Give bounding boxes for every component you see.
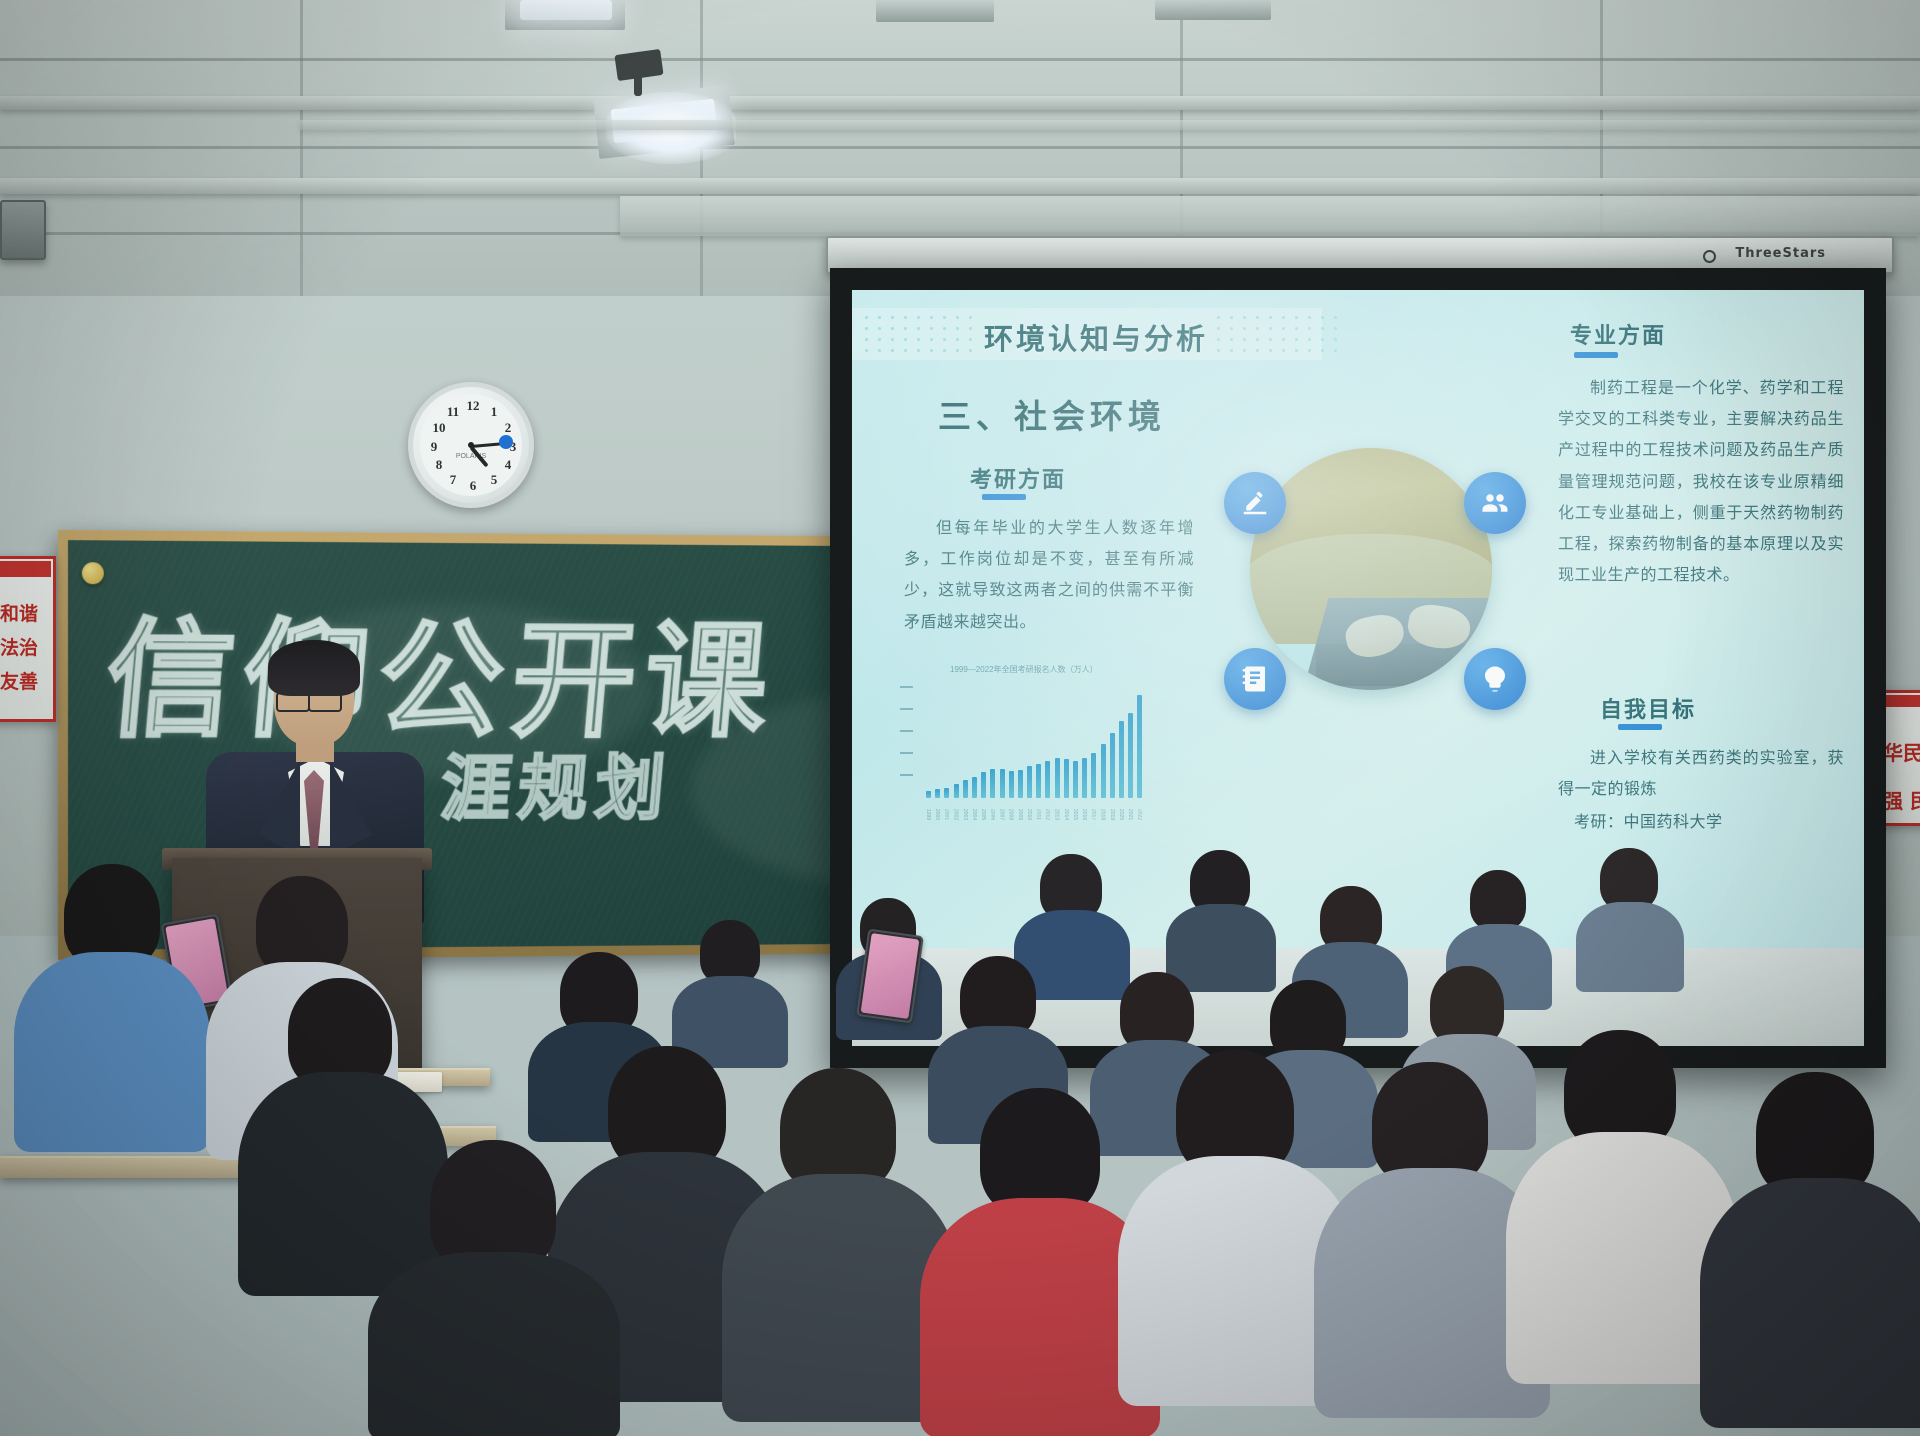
left-sub-underline xyxy=(982,494,1026,500)
chart-bar xyxy=(1119,721,1124,798)
chart-bar xyxy=(1137,695,1142,798)
ceiling-beam xyxy=(0,96,1920,110)
ceiling-rail xyxy=(620,196,1920,236)
right-sub-underline xyxy=(1574,352,1618,358)
chart-bar xyxy=(935,789,940,798)
chart-bar xyxy=(981,772,986,798)
wall-clock: 12 1 2 3 4 5 6 7 8 9 10 11 POLARIS xyxy=(408,382,534,508)
slide-title: 环境认知与分析 xyxy=(984,316,1208,358)
chart-bar xyxy=(1036,764,1041,798)
ceiling-beam xyxy=(0,178,1920,194)
chart-x-label: 2013 xyxy=(1055,800,1060,820)
audience-body xyxy=(238,1072,448,1296)
audience-head xyxy=(1600,848,1658,910)
audience-head xyxy=(1470,870,1526,930)
audience-body xyxy=(14,952,210,1152)
wall-banner-left: 和谐 法治 友善 xyxy=(0,556,56,722)
chart-bar xyxy=(926,791,931,798)
audience-body xyxy=(1576,902,1684,992)
lecture-hall-photo: 12 1 2 3 4 5 6 7 8 9 10 11 POLARIS 信仰公开课… xyxy=(0,0,1920,1436)
chart-bar xyxy=(1073,761,1078,798)
projector-brand: ThreeStars xyxy=(1735,246,1826,261)
goal-paragraph: 进入学校有关西药类的实验室，获得一定的锻炼 xyxy=(1558,742,1844,804)
banner-left-line-3: 友善 xyxy=(0,667,38,694)
brain-idea-icon[interactable] xyxy=(1464,648,1526,710)
camera-mount-arm xyxy=(634,74,642,96)
bar-chart: 1999—2022年全国考研报名人数（万人） 19992000200120022… xyxy=(896,680,1226,820)
ceiling-light-fixture xyxy=(1155,0,1271,20)
chart-x-label: 2022 xyxy=(1137,800,1142,820)
chart-x-label: 2004 xyxy=(972,800,977,820)
banner-left-line-1: 和谐 xyxy=(0,599,38,626)
chart-x-label: 2002 xyxy=(954,800,959,820)
chart-bar xyxy=(1055,758,1060,798)
chart-x-label: 2001 xyxy=(944,800,949,820)
chart-x-labels: 1999200020012002200320042005200620072008… xyxy=(926,800,1226,820)
audience xyxy=(0,840,1920,1436)
chart-bar xyxy=(990,769,995,798)
chart-y-axis xyxy=(896,680,922,798)
chart-bar xyxy=(1009,771,1014,798)
ceiling-light xyxy=(520,0,612,20)
blackboard-subtitle: 涯规划 xyxy=(437,730,677,834)
blackboard-magnet xyxy=(82,562,104,584)
slide-photo xyxy=(1250,448,1492,690)
audience-body xyxy=(368,1252,620,1436)
ceiling-rail xyxy=(300,120,1920,130)
slide-section-heading: 三、社会环境 xyxy=(938,390,1166,438)
audience-body xyxy=(1166,904,1276,992)
brand-logo-icon xyxy=(1703,250,1716,263)
chart-x-label: 2020 xyxy=(1119,800,1124,820)
clock-marker xyxy=(499,435,513,449)
people-group-icon[interactable] xyxy=(1464,472,1526,534)
chart-x-label: 2021 xyxy=(1128,800,1133,820)
chart-x-label: 2007 xyxy=(1000,800,1005,820)
chart-x-label: 2011 xyxy=(1036,800,1041,820)
decor-dots-right xyxy=(1212,312,1342,356)
chart-bar xyxy=(1101,744,1106,798)
chart-x-label: 2019 xyxy=(1110,800,1115,820)
left-sub-heading: 考研方面 xyxy=(970,462,1066,494)
banner-left-line-2: 法治 xyxy=(0,633,38,660)
chart-bar xyxy=(954,784,959,798)
chart-x-label: 2006 xyxy=(990,800,995,820)
chart-bar xyxy=(972,777,977,798)
goal-underline xyxy=(1618,724,1662,730)
chart-x-label: 2012 xyxy=(1045,800,1050,820)
chart-x-label: 2009 xyxy=(1018,800,1023,820)
chart-x-label: 1999 xyxy=(926,800,931,820)
chart-bar xyxy=(1082,758,1087,798)
goal-heading: 自我目标 xyxy=(1600,692,1696,724)
chart-bar xyxy=(963,780,968,798)
chart-bars xyxy=(926,688,1226,798)
chart-bar xyxy=(1128,713,1133,798)
chart-bar xyxy=(944,788,949,798)
wall-speaker-left xyxy=(0,200,46,260)
chart-x-label: 2018 xyxy=(1101,800,1106,820)
chart-x-label: 2000 xyxy=(935,800,940,820)
chart-x-label: 2017 xyxy=(1091,800,1096,820)
chart-x-label: 2010 xyxy=(1027,800,1032,820)
ceiling-light-fixture xyxy=(876,0,994,22)
chart-caption: 1999—2022年全国考研报名人数（万人） xyxy=(950,664,1098,675)
audience-head xyxy=(256,876,348,976)
decor-dots-left xyxy=(860,312,972,356)
pen-write-icon[interactable] xyxy=(1224,472,1286,534)
chart-bar xyxy=(1000,769,1005,798)
chart-x-label: 2005 xyxy=(981,800,986,820)
chart-x-label: 2015 xyxy=(1073,800,1078,820)
glasses-icon xyxy=(308,692,342,712)
chart-x-label: 2014 xyxy=(1064,800,1069,820)
audience-body xyxy=(1700,1178,1920,1428)
audience-head xyxy=(700,920,760,984)
chart-bar xyxy=(1091,753,1096,798)
right-sub-heading: 专业方面 xyxy=(1570,318,1666,350)
audience-head xyxy=(980,1088,1100,1216)
right-paragraph: 制药工程是一个化学、药学和工程学交叉的工科类专业，主要解决药品生产过程中的工程技… xyxy=(1558,372,1844,590)
notebook-icon[interactable] xyxy=(1224,648,1286,710)
chart-bar xyxy=(1018,770,1023,798)
chart-bar xyxy=(1045,761,1050,798)
chart-bar xyxy=(1027,766,1032,798)
chart-bar xyxy=(1064,759,1069,798)
chart-x-label: 2008 xyxy=(1009,800,1014,820)
chart-x-label: 2016 xyxy=(1082,800,1087,820)
left-paragraph: 但每年毕业的大学生人数逐年增多，工作岗位却是不变，甚至有所减少，这就导致这两者之… xyxy=(904,512,1194,637)
chart-x-label: 2003 xyxy=(963,800,968,820)
chart-bar xyxy=(1110,733,1115,798)
clock-center xyxy=(468,442,474,448)
goal-note: 考研：中国药科大学 xyxy=(1574,806,1860,837)
glasses-icon xyxy=(276,692,310,712)
